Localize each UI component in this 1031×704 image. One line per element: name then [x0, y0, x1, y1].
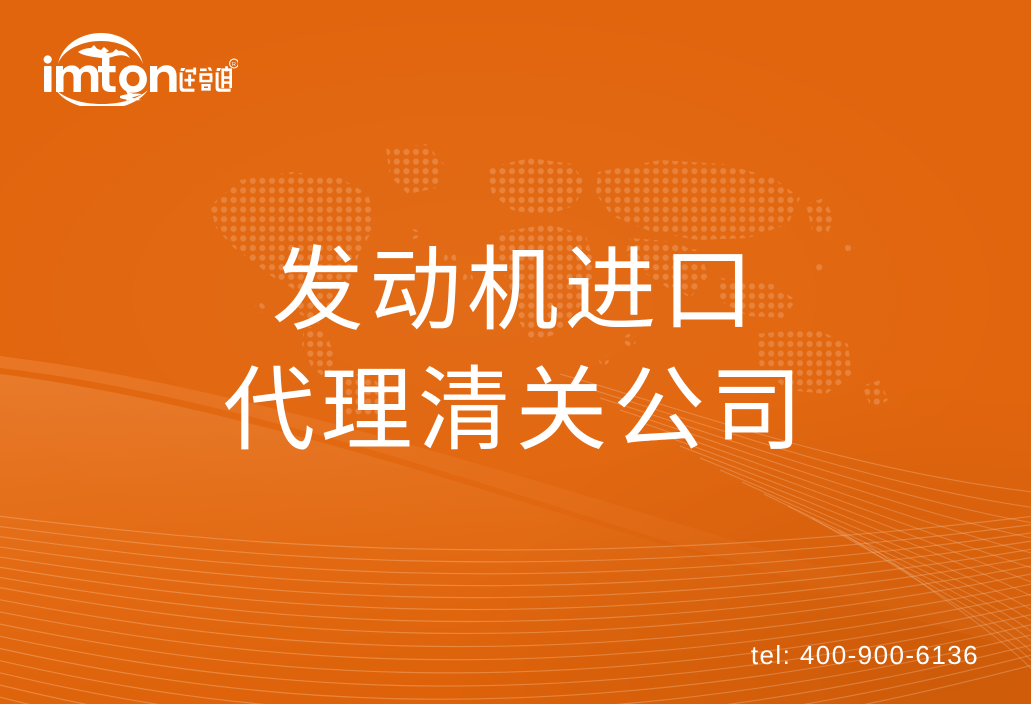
headline-line-2: 代理清关公司	[0, 352, 1031, 472]
company-logo: R	[38, 28, 238, 106]
promo-banner: R 发动机进口 代理清关公司 tel: 400-900-6136	[0, 0, 1031, 704]
telephone-number: tel: 400-900-6136	[751, 640, 979, 671]
svg-text:R: R	[232, 62, 236, 68]
headline-line-1: 发动机进口	[0, 232, 1031, 352]
headline: 发动机进口 代理清关公司	[0, 232, 1031, 471]
